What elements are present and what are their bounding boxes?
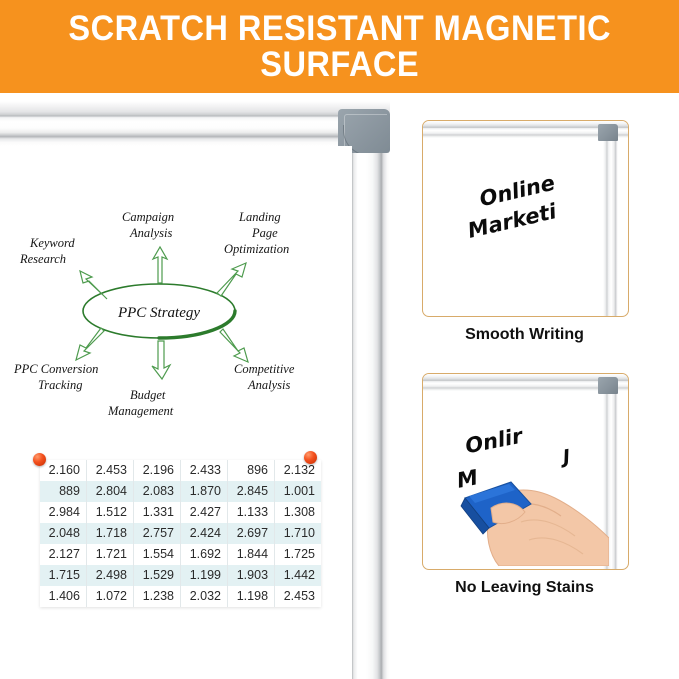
table-cell: 2.697 [228, 523, 275, 544]
table-cell: 1.199 [180, 565, 227, 586]
table-cell: 896 [228, 460, 275, 481]
table-cell: 1.406 [40, 586, 86, 607]
table-cell: 1.844 [228, 544, 275, 565]
table-cell: 2.424 [180, 523, 227, 544]
table-cell: 1.903 [228, 565, 275, 586]
table-cell: 2.196 [133, 460, 180, 481]
table-cell: 2.032 [180, 586, 227, 607]
table-cell: 1.442 [275, 565, 321, 586]
mindmap-node-ppc-conversion-line1: PPC Conversion [13, 362, 98, 376]
table-cell: 2.498 [86, 565, 133, 586]
table-cell: 1.554 [133, 544, 180, 565]
mindmap-node-ppc-conversion-line2: Tracking [38, 378, 82, 392]
partially-erased-line-1: Onlir [463, 424, 524, 459]
table-cell: 2.427 [180, 502, 227, 523]
panel-caption-smooth-writing: Smooth Writing [422, 326, 627, 344]
table-cell: 2.083 [133, 481, 180, 502]
table-cell: 2.433 [180, 460, 227, 481]
header-banner: SCRATCH RESISTANT MAGNETIC SURFACE [0, 0, 679, 93]
table-cell: 2.845 [228, 481, 275, 502]
handwriting-line-2: Marketi [465, 199, 558, 243]
magnetic-data-sheet: 2.1602.4532.1962.4338962.1328892.8042.08… [40, 460, 321, 607]
table-cell: 1.692 [180, 544, 227, 565]
ppc-strategy-mindmap: PPC Strategy Keyword Research Campaign A… [12, 201, 342, 433]
table-cell: 2.984 [40, 502, 86, 523]
table-cell: 1.529 [133, 565, 180, 586]
panel-caption-no-leaving-stains: No Leaving Stains [422, 579, 627, 597]
mindmap-center-label: PPC Strategy [117, 305, 200, 321]
table-cell: 1.133 [228, 502, 275, 523]
mindmap-node-campaign-analysis-line1: Campaign [122, 210, 174, 224]
table-cell: 1.725 [275, 544, 321, 565]
table-cell: 889 [40, 481, 86, 502]
table-cell: 1.512 [86, 502, 133, 523]
mindmap-node-competitive-analysis-line2: Analysis [247, 378, 290, 392]
table-cell: 1.238 [133, 586, 180, 607]
table-row: 2.0481.7182.7572.4242.6971.710 [40, 523, 321, 544]
table-cell: 1.718 [86, 523, 133, 544]
table-cell: 2.132 [275, 460, 321, 481]
mindmap-node-keyword-research-line1: Keyword [29, 236, 75, 250]
table-cell: 1.870 [180, 481, 227, 502]
table-cell: 2.453 [86, 460, 133, 481]
mindmap-node-budget-management-line2: Management [107, 404, 174, 418]
mindmap-node-campaign-analysis-line2: Analysis [129, 226, 172, 240]
page-title: SCRATCH RESISTANT MAGNETIC SURFACE [55, 11, 624, 82]
mini-board-corner-bracket [598, 124, 618, 141]
table-cell: 1.715 [40, 565, 86, 586]
mindmap-node-budget-management-line1: Budget [130, 388, 166, 402]
magnet-left[interactable] [33, 453, 46, 466]
mindmap-node-keyword-research-line2: Research [19, 252, 66, 266]
table-row: 8892.8042.0831.8702.8451.001 [40, 481, 321, 502]
mindmap-node-landing-page-line1: Landing [238, 210, 281, 224]
table-cell: 2.453 [275, 586, 321, 607]
mini-board-right-rail [603, 131, 618, 316]
table-row: 2.1602.4532.1962.4338962.132 [40, 460, 321, 481]
smooth-writing-board: Online Marketi [422, 120, 629, 317]
data-table: 2.1602.4532.1962.4338962.1328892.8042.08… [40, 460, 321, 607]
magnet-right[interactable] [304, 451, 317, 464]
table-cell: 2.757 [133, 523, 180, 544]
feature-panel-no-leaving-stains: Onlir M J [422, 373, 627, 597]
table-row: 2.1271.7211.5541.6921.8441.725 [40, 544, 321, 565]
data-table-body: 2.1602.4532.1962.4338962.1328892.8042.08… [40, 460, 321, 607]
table-cell: 1.721 [86, 544, 133, 565]
mindmap-node-landing-page-line3: Optimization [224, 242, 289, 256]
table-cell: 2.048 [40, 523, 86, 544]
feature-panel-smooth-writing: Online Marketi Smooth Writing [422, 120, 627, 344]
table-cell: 1.001 [275, 481, 321, 502]
table-cell: 2.804 [86, 481, 133, 502]
whiteboard-top-frame-rail [0, 101, 390, 146]
table-row: 1.4061.0721.2382.0321.1982.453 [40, 586, 321, 607]
mindmap-node-competitive-analysis-line1: Competitive [234, 362, 295, 376]
product-stage: PPC Strategy Keyword Research Campaign A… [0, 93, 679, 679]
hand-with-eraser-illustration [459, 456, 609, 566]
table-cell: 1.072 [86, 586, 133, 607]
table-cell: 2.160 [40, 460, 86, 481]
table-cell: 1.331 [133, 502, 180, 523]
table-cell: 1.198 [228, 586, 275, 607]
table-cell: 1.710 [275, 523, 321, 544]
table-cell: 1.308 [275, 502, 321, 523]
main-whiteboard: PPC Strategy Keyword Research Campaign A… [0, 101, 402, 679]
table-cell: 2.127 [40, 544, 86, 565]
mindmap-node-landing-page-line2: Page [251, 226, 278, 240]
table-row: 2.9841.5121.3312.4271.1331.308 [40, 502, 321, 523]
mini-board-corner-bracket-2 [598, 377, 618, 394]
no-stains-board: Onlir M J [422, 373, 629, 570]
table-row: 1.7152.4981.5291.1991.9031.442 [40, 565, 321, 586]
